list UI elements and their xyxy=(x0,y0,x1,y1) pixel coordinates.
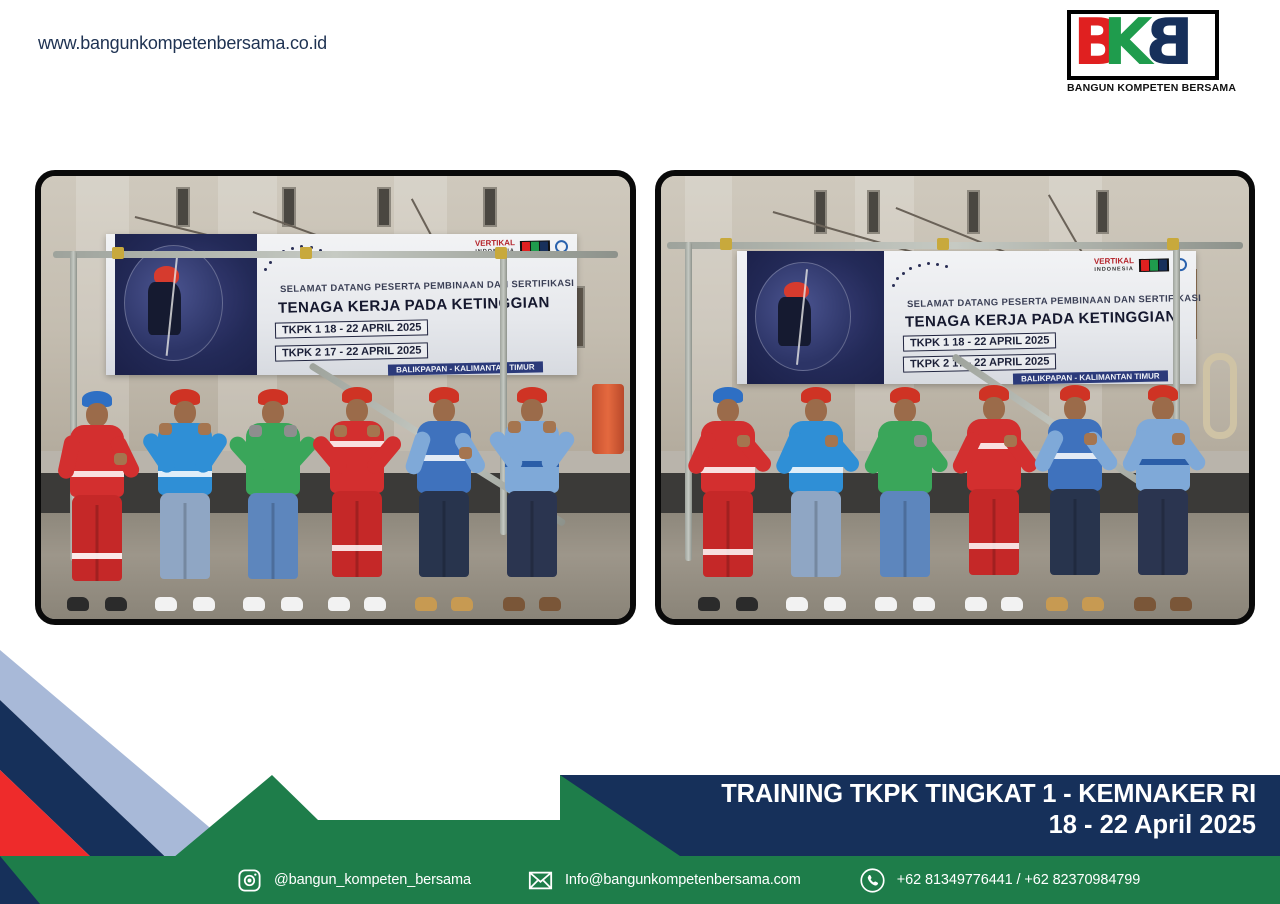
event-title-line1: TRAINING TKPK TINGKAT 1 - KEMNAKER RI xyxy=(721,779,1256,810)
logo-letter-b-navy: B xyxy=(1145,14,1194,74)
participant xyxy=(65,391,129,601)
participant xyxy=(1131,385,1195,601)
participant xyxy=(873,387,937,601)
indonesia-label: INDONESIA xyxy=(1094,265,1134,274)
contact-footer: @bangun_kompeten_bersama Info@bangunkomp… xyxy=(0,856,1280,904)
email-contact[interactable]: Info@bangunkompetenbersama.com xyxy=(527,867,801,894)
instagram-icon xyxy=(236,867,263,894)
phone-icon xyxy=(859,867,886,894)
participant xyxy=(241,389,305,601)
vertikal-indonesia-logo: VERTIKAL INDONESIA xyxy=(1094,257,1134,274)
participant xyxy=(153,389,217,601)
instagram-handle: @bangun_kompeten_bersama xyxy=(274,872,471,888)
banner-dot-arc xyxy=(889,261,962,301)
event-title-block: TRAINING TKPK TINGKAT 1 - KEMNAKER RI 18… xyxy=(721,779,1256,841)
phone-contact[interactable]: +62 81349776441 / +62 82370984799 xyxy=(859,867,1140,894)
banner-title-line: TENAGA KERJA PADA KETINGGIAN xyxy=(905,308,1177,331)
photo2-scaffold-rail xyxy=(667,242,1243,249)
photo1-barrel xyxy=(592,384,624,454)
bkb-logo-caption: BANGUN KOMPETEN BERSAMA xyxy=(1067,82,1219,94)
participant xyxy=(412,387,476,601)
white-wedge-notch xyxy=(272,775,560,820)
envelope-icon xyxy=(527,867,554,894)
photo2-scaffold-post-left xyxy=(685,242,692,561)
participant xyxy=(324,387,390,601)
banner-location: BALIKPAPAN - KALIMANTAN TIMUR xyxy=(388,361,543,375)
bkb-logo: B K B BANGUN KOMPETEN BERSAMA xyxy=(1067,10,1219,96)
vertikal-label: VERTIKAL xyxy=(1094,256,1134,266)
banner-dot-arc xyxy=(261,244,336,287)
event-title-line2: 18 - 22 April 2025 xyxy=(721,810,1256,841)
participant xyxy=(500,387,564,601)
bkb-logo-mark: B K B xyxy=(1067,10,1219,80)
banner-location: BALIKPAPAN - KALIMANTAN TIMUR xyxy=(1013,370,1168,384)
photo2-rope-coil xyxy=(1203,353,1237,439)
banner-bkb-logo xyxy=(1139,258,1169,272)
banner-tkpk1-box: TKPK 1 18 - 22 APRIL 2025 xyxy=(275,320,429,339)
participant xyxy=(961,385,1027,601)
participant xyxy=(1043,385,1107,601)
email-address: Info@bangunkompetenbersama.com xyxy=(565,872,801,888)
participant xyxy=(696,387,760,601)
banner-title-line: TENAGA KERJA PADA KETINGGIAN xyxy=(278,295,550,318)
banner-tkpk2-box: TKPK 2 17 - 22 APRIL 2025 xyxy=(275,343,429,362)
phone-numbers: +62 81349776441 / +62 82370984799 xyxy=(897,872,1140,888)
training-group-photo-1: SELAMAT DATANG PESERTA PEMBINAAN DAN SER… xyxy=(35,170,636,625)
photo1-scaffold-rail xyxy=(53,251,618,258)
banner-tkpk1-box: TKPK 1 18 - 22 APRIL 2025 xyxy=(902,332,1056,351)
participant xyxy=(784,387,848,601)
training-group-photo-2: SELAMAT DATANG PESERTA PEMBINAAN DAN SER… xyxy=(655,170,1255,625)
instagram-contact[interactable]: @bangun_kompeten_bersama xyxy=(236,867,471,894)
website-url: www.bangunkompetenbersama.co.id xyxy=(38,33,327,54)
